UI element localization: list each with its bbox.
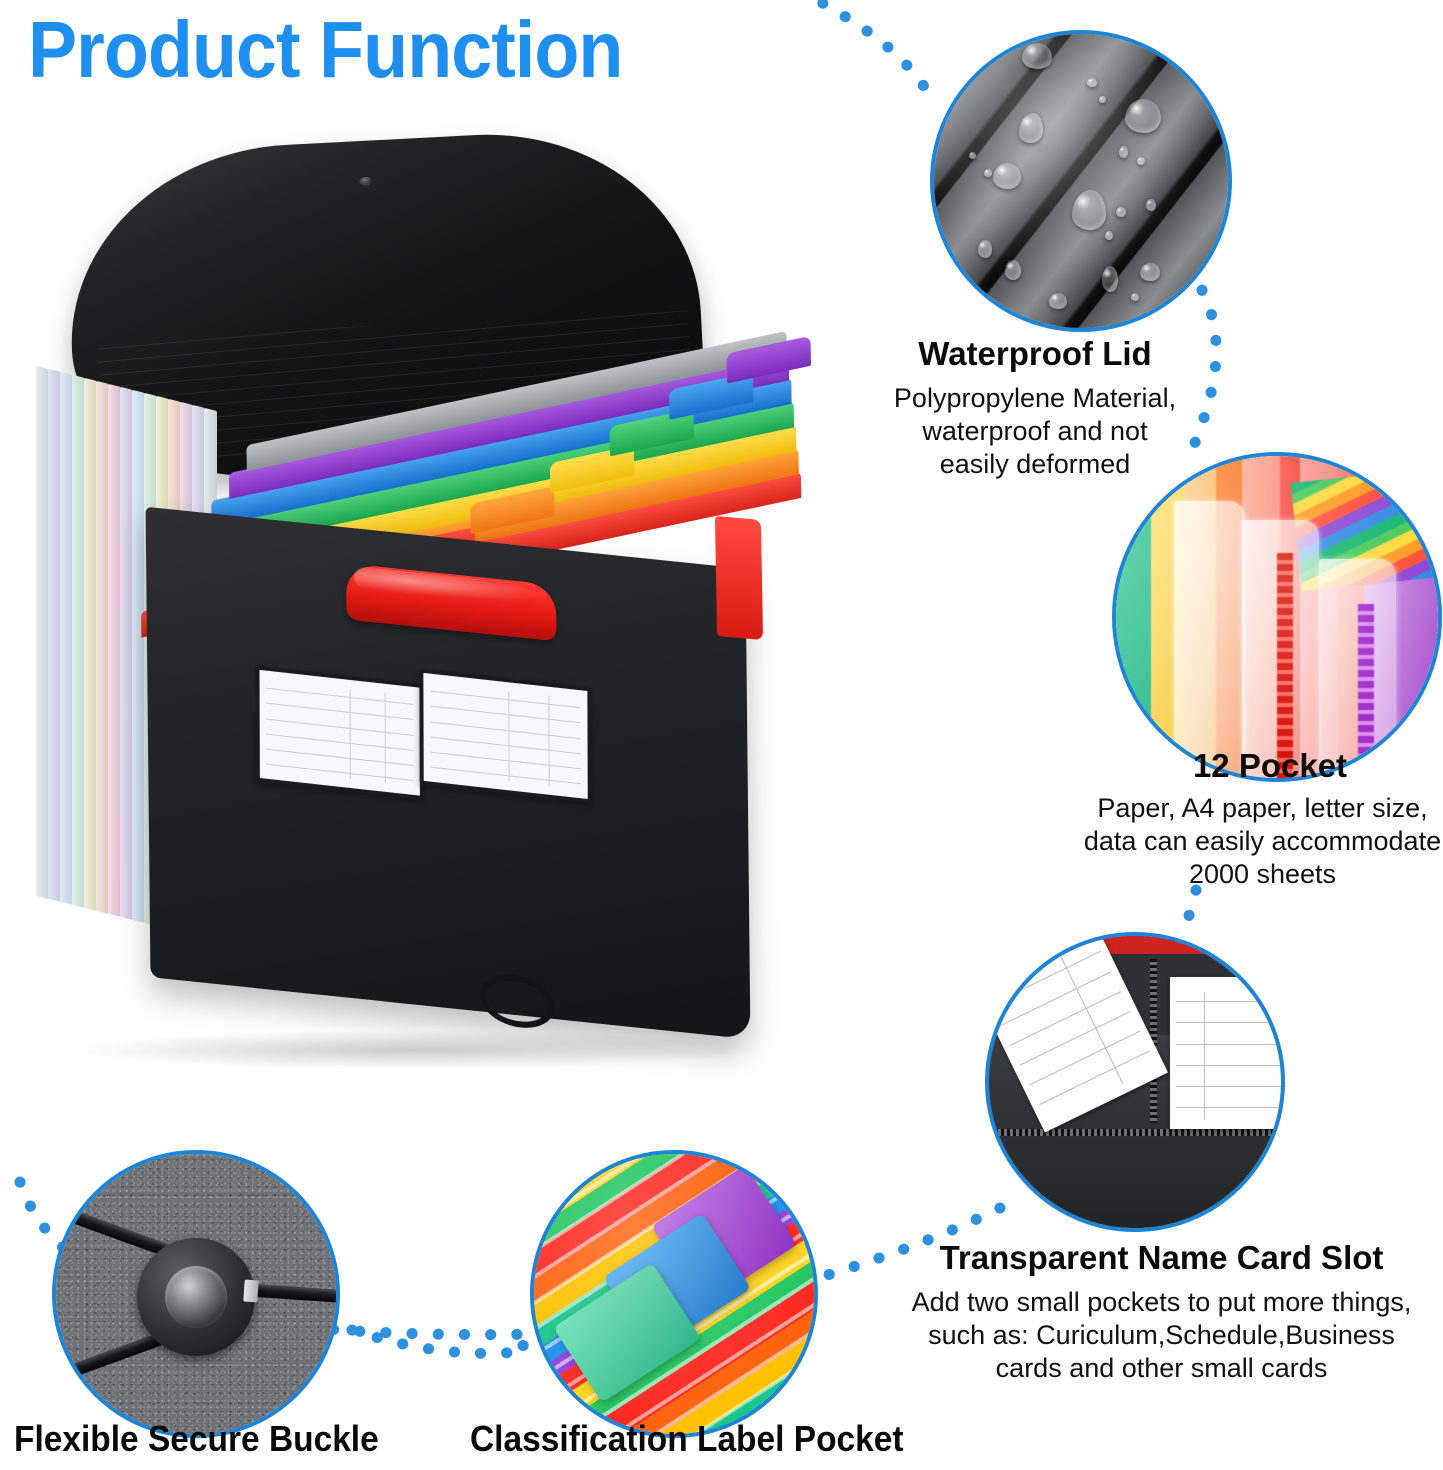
page-title: Product Function: [28, 8, 622, 92]
infographic-page: Product Function: [0, 0, 1443, 1470]
feature-body-twelve-pocket: Paper, A4 paper, letter size, data can e…: [1082, 792, 1443, 891]
callout-image-buckle: [52, 1150, 340, 1438]
bottom-label-flexible-secure-buckle: Flexible Secure Buckle: [14, 1418, 379, 1460]
feature-heading-name-card-slot: Transparent Name Card Slot: [880, 1240, 1443, 1276]
dot-path-pocket-to-namecard: [1180, 890, 1196, 934]
callout-image-name-card-slot: [985, 932, 1285, 1232]
red-handle: [346, 563, 557, 641]
feature-heading-waterproof-lid: Waterproof Lid: [860, 336, 1210, 372]
callout-image-twelve-pocket: [1112, 452, 1442, 782]
dot-path-classification-left: [352, 1330, 520, 1353]
callout-image-classification-label-pocket: [530, 1150, 818, 1438]
name-card-in-slot: [1170, 977, 1285, 1129]
product-photo-expanding-file-folder: [30, 140, 830, 1060]
feature-heading-twelve-pocket: 12 Pocket: [1097, 748, 1443, 784]
red-edge-divider-tab: [715, 516, 763, 640]
feature-body-name-card-slot: Add two small pockets to put more things…: [880, 1286, 1443, 1385]
dot-path-title-to-waterproof: [800, 0, 930, 95]
name-card-pocket-left: [256, 665, 424, 800]
folder-front-panel: [146, 507, 751, 1040]
bottom-label-classification-label-pocket: Classification Label Pocket: [470, 1418, 904, 1460]
lid-rivet: [359, 177, 372, 187]
product-ground-shadow: [70, 1030, 750, 1070]
elastic-cord-loop: [478, 971, 557, 1032]
callout-image-waterproof-lid: [930, 30, 1232, 332]
name-card-pocket-right: [419, 668, 591, 803]
